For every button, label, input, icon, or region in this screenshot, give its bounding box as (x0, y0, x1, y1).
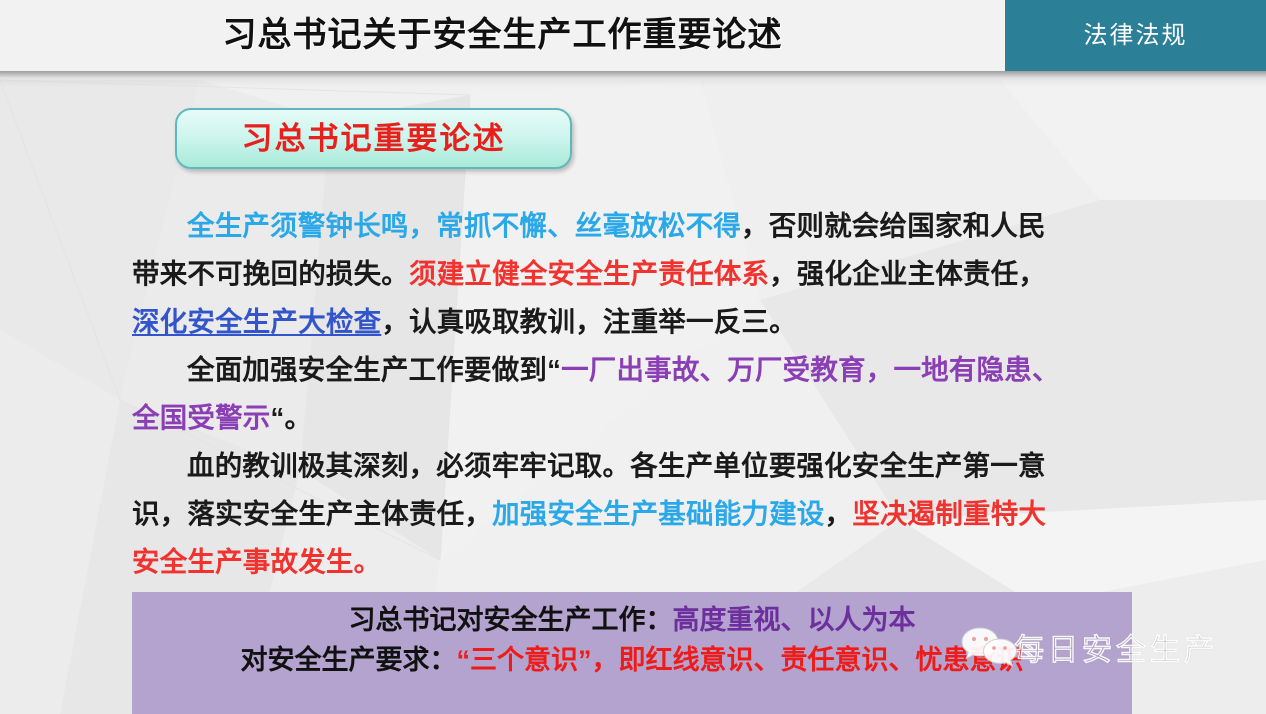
summary-line-1: 习总书记对安全生产工作：高度重视、以人为本 (132, 592, 1132, 639)
paragraph-2: 全面加强安全生产工作要做到“一厂出事故、万厂受教育，一地有隐患、全国受警示“。 (132, 346, 1072, 442)
text-run-cyan: 全生产须警钟长鸣，常抓不懈、丝毫放松不得 (187, 210, 741, 241)
text-run-blue: 深化安全生产大检查 (132, 306, 381, 337)
text-run-black: ，认真吸取教训，注重举一反三。 (381, 306, 797, 337)
text-run-black: “。 (271, 402, 313, 433)
section-title-label: 习总书记重要论述 (177, 110, 570, 167)
text-run-black: ，强化企业主体责任， (769, 258, 1046, 289)
summary-run-red: “三个意识” (457, 645, 592, 675)
text-run-cyan: 加强安全生产基础能力建设 (492, 498, 824, 529)
text-run-black: ， (825, 498, 853, 529)
body-copy: 全生产须警钟长鸣，常抓不懈、丝毫放松不得，否则就会给国家和人民带来不可挽回的损失… (132, 202, 1072, 586)
page-title: 习总书记关于安全生产工作重要论述 (0, 0, 1005, 71)
summary-box: 习总书记对安全生产工作：高度重视、以人为本 对安全生产要求：“三个意识”，即红线… (132, 592, 1132, 714)
slide-header: 习总书记关于安全生产工作重要论述 法律法规 (0, 0, 1266, 71)
summary-run-red: ，即红线意识、责任意识、忧患意识 (592, 645, 1024, 675)
paragraph-1: 全生产须警钟长鸣，常抓不懈、丝毫放松不得，否则就会给国家和人民带来不可挽回的损失… (132, 202, 1072, 346)
text-run-red: 须建立健全安全生产责任体系 (409, 258, 769, 289)
summary-line-2: 对安全生产要求：“三个意识”，即红线意识、责任意识、忧患意识 (132, 639, 1132, 679)
summary-run-purple: 高度重视、以人为本 (673, 605, 916, 635)
text-run-black: 全面加强安全生产工作要做到“ (187, 354, 561, 385)
paragraph-3: 血的教训极其深刻，必须牢牢记取。各生产单位要强化安全生产第一意识，落实安全生产主… (132, 442, 1072, 586)
summary-run-black: 习总书记对安全生产工作： (349, 605, 673, 635)
summary-run-black: 对安全生产要求： (241, 645, 457, 675)
header-badge-category: 法律法规 (1005, 0, 1266, 71)
section-title-pill: 习总书记重要论述 (175, 108, 572, 169)
slide-canvas: 习总书记关于安全生产工作重要论述 法律法规 习总书记重要论述 全生产须警钟长鸣，… (0, 0, 1266, 714)
